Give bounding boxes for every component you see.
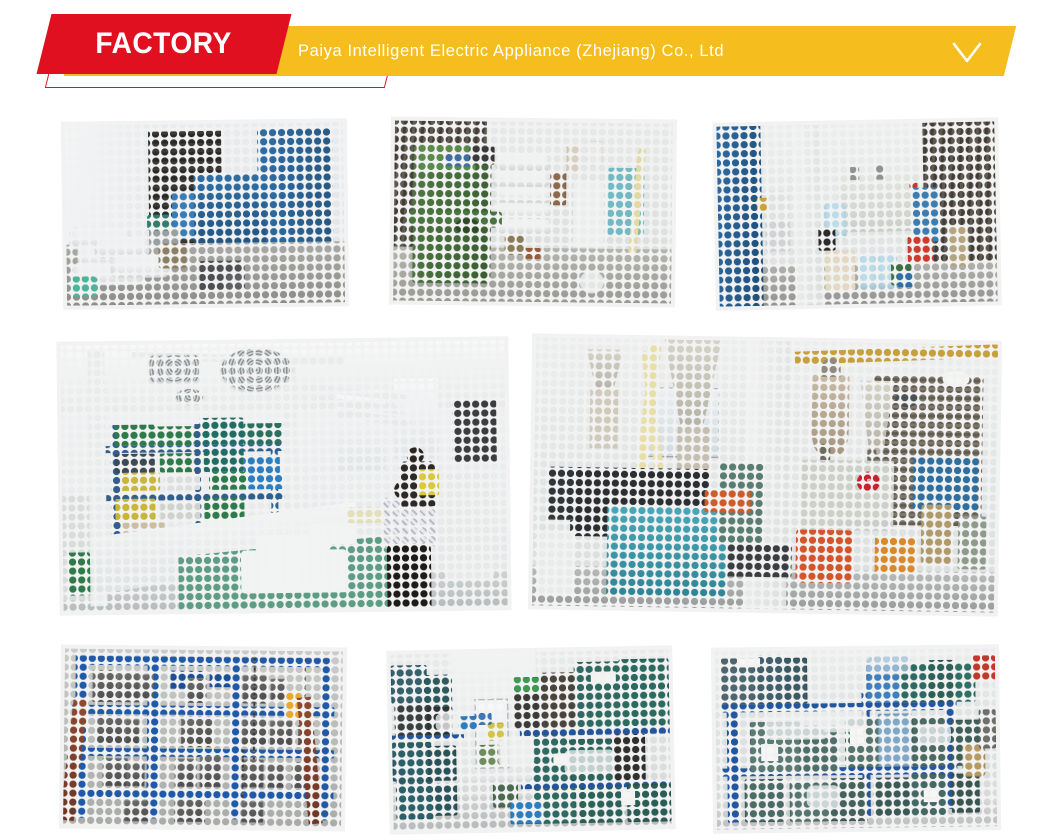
gallery-row-1 [0,112,1060,312]
factory-photo-1[interactable] [61,118,349,309]
gallery-row-2: 5 [0,335,1060,620]
gallery-row-3 [0,640,1060,835]
photo-7-scene [390,649,671,830]
factory-photo-gallery: 5 [0,100,1060,840]
factory-photo-5[interactable]: 5 [528,333,1002,616]
factory-badge-label: FACTORY [96,27,232,61]
factory-header-banner: Paiya Intelligent Electric Appliance (Zh… [0,0,1060,100]
factory-photo-7[interactable] [386,645,675,834]
photo-2-scene [393,121,673,304]
photo-1-scene [65,122,345,305]
chevron-down-icon[interactable] [950,40,984,66]
factory-badge: FACTORY [37,14,292,74]
photo-4-scene [60,340,507,611]
company-name: Paiya Intelligent Electric Appliance (Zh… [298,42,724,61]
photo-5-scene: 5 [532,337,998,612]
factory-photo-6[interactable] [59,645,347,832]
photo-6-scene [63,649,343,828]
factory-photo-2[interactable] [389,117,677,308]
photo-8-scene [715,648,997,829]
factory-photo-4[interactable] [56,336,511,616]
photo-3-scene [716,121,997,306]
factory-photo-8[interactable] [711,644,1001,834]
factory-photo-3[interactable] [712,117,1002,310]
